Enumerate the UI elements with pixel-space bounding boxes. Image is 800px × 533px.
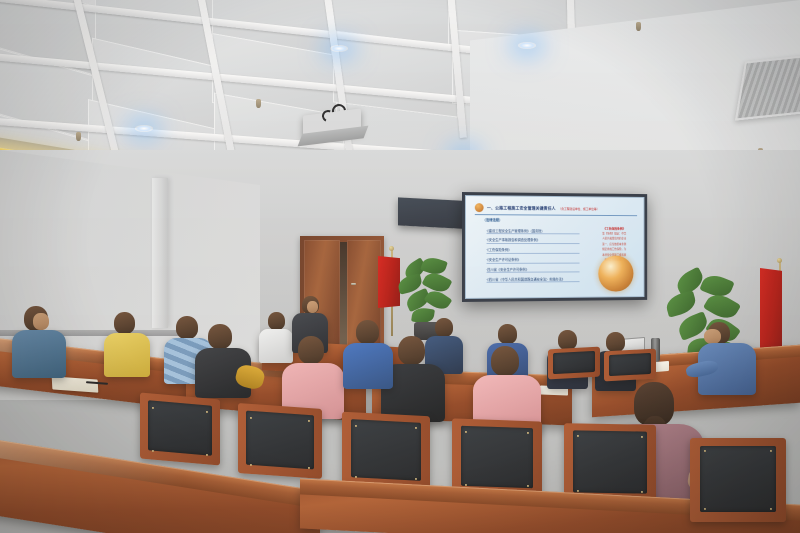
slide-sidebar-line: 规定参加工伤保险，为 [602, 247, 626, 251]
slide-sidebar-line: 人民共和国境内的企业 [602, 237, 626, 241]
door-handle[interactable] [351, 283, 356, 285]
slide-bullet-icon [475, 203, 484, 212]
ceiling-air-vent [735, 53, 800, 120]
meeting-room-photo: 一、公路工程施工安全管理关键责任人 （含工程建设单位、施工单位等） （法律法规）… [0, 0, 800, 533]
slide-bullet-list: ·《建设工程安全生产管理条例》（国务院） ·《安全生产事故报告和调查处理条例》 … [486, 228, 579, 283]
slide-sidebar-title: 《工伤保险条例》 [603, 226, 625, 230]
slide-subtitle: （法律法规） [482, 218, 502, 223]
door-opening [340, 242, 347, 348]
slide-bullet-item: ·四川省《安全生产许可条例》 [486, 266, 579, 273]
slide-title: 一、公路工程施工安全管理关键责任人 [487, 205, 556, 211]
ceiling-downlight [330, 45, 348, 52]
wall-pilaster [152, 178, 168, 328]
ceiling-downlight [518, 42, 536, 49]
presentation-slide: 一、公路工程施工安全管理关键责任人 （含工程建设单位、施工单位等） （法律法规）… [465, 195, 644, 299]
sprinkler-head [636, 22, 641, 31]
slide-bullet-item: ·《安全生产事故报告和调查处理条例》 [486, 237, 579, 244]
slide-bullet-item: ·《安全生产许可证条例》 [486, 257, 579, 264]
flag-finial-icon [389, 246, 394, 251]
sprinkler-head [76, 132, 81, 141]
slide-sidebar-line: 第一、应当依照本条例 [602, 242, 626, 246]
slide-bullet-item: ·《四川省〈中华人民共和国道路交通安全法〉实施办法》 [486, 276, 579, 283]
flag-finial-icon [777, 258, 782, 263]
slide-title-note: （含工程建设单位、施工单位等） [559, 206, 600, 210]
slide-title-row: 一、公路工程施工安全管理关键责任人 （含工程建设单位、施工单位等） [475, 203, 637, 216]
slide-bullet-item: ·《建设工程安全生产管理条例》（国务院） [486, 228, 579, 235]
slide-bullet-item: ·《工伤保险条例》 [486, 247, 579, 254]
globe-icon [599, 255, 634, 291]
chinese-national-flag [378, 256, 400, 308]
sprinkler-head [256, 99, 261, 108]
ceiling-downlight [135, 125, 153, 132]
projection-screen: 一、公路工程施工安全管理关键责任人 （含工程建设单位、施工单位等） （法律法规）… [462, 192, 647, 302]
slide-sidebar-line: 第【条例】规定：中华 [602, 231, 626, 235]
